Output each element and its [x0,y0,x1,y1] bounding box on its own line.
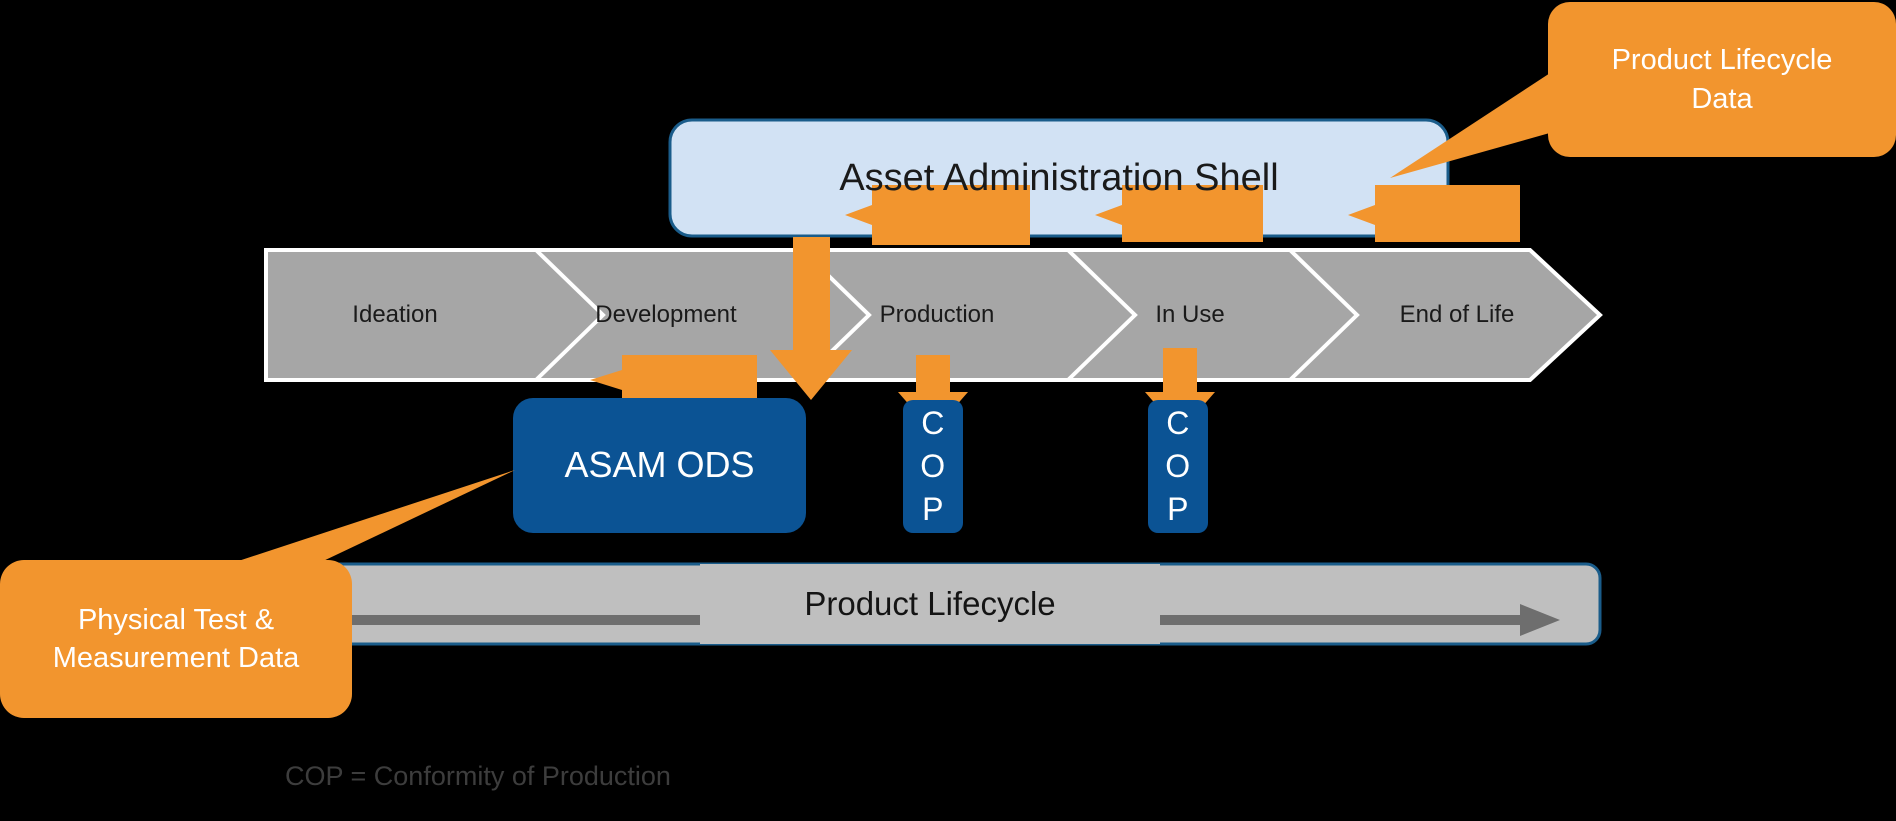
arrow-development-to-aas [845,185,1030,245]
callout-tail-physical-test-measurement-data [205,470,515,572]
asset-administration-shell-box [670,120,1448,236]
asam-ods-box [513,398,806,533]
callout-product-lifecycle-data [1390,2,1896,178]
diagram-canvas: Asset Administration Shell Ideation Deve… [0,0,1896,821]
diagram-vector-layer [0,0,1896,821]
cop-production-box [903,400,963,533]
cop-in-use-box [1148,400,1208,533]
product-lifecycle-bar [263,564,1600,644]
